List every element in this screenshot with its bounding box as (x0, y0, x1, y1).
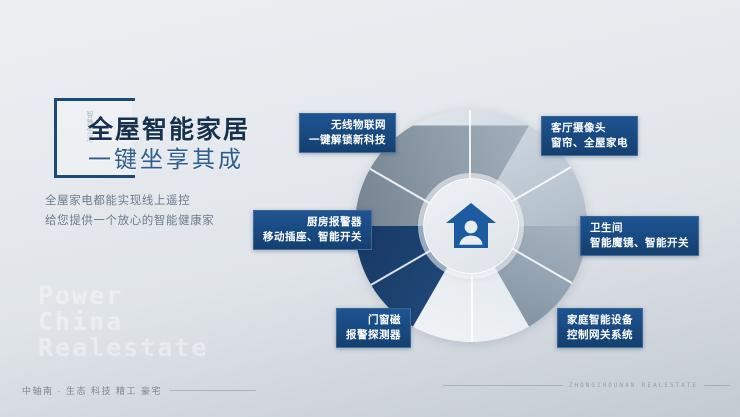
label-line-1: 门窗磁 (346, 313, 401, 328)
footer-rule (170, 390, 256, 391)
label-line-2: 报警探测器 (346, 328, 401, 343)
label-line-1: 家庭智能设备 (567, 313, 633, 328)
label-bathroom[interactable]: 卫生间 智能魔镜、智能开关 (580, 216, 699, 256)
label-kitchen-alarm[interactable]: 厨房报警器 移动插座、智能开关 (253, 210, 372, 250)
slide-canvas: 智慧生活 全屋智能家居 一键坐享其成 全屋家电都能实现线上遥控 给您提供一个放心… (0, 0, 740, 417)
label-line-2: 控制网关系统 (567, 328, 633, 343)
label-line-1: 厨房报警器 (263, 215, 362, 230)
label-line-2: 智能魔镜、智能开关 (590, 236, 689, 251)
label-line-1: 无线物联网 (309, 118, 386, 133)
watermark-line-3: Realestate (38, 335, 209, 361)
label-living-room[interactable]: 客厅摄像头 窗帘、全屋家电 (541, 116, 638, 156)
label-line-1: 卫生间 (590, 221, 689, 236)
label-line-2: 窗帘、全屋家电 (551, 136, 628, 151)
watermark-line-1: Power (38, 283, 209, 309)
background-watermark: Power China Realestate (38, 283, 209, 361)
footer-brand-text: ZHONGZHOUNAN REALESTATE (569, 382, 698, 389)
watermark-line-2: China (38, 309, 209, 335)
page-subtitle: 一键坐享其成 (88, 140, 244, 174)
description-line-1: 全屋家电都能实现线上遥控 (45, 191, 214, 211)
donut-center-hub (423, 178, 519, 274)
label-line-2: 一键解锁新科技 (309, 133, 386, 148)
footer-tagline: 中轴南 · 生态 科技 精工 豪宅 (22, 384, 256, 397)
label-door-sensor[interactable]: 门窗磁 报警探测器 (336, 308, 411, 348)
footer-brand-rule-left (443, 385, 563, 386)
description-line-2: 给您提供一个放心的智能健康家 (45, 211, 214, 231)
label-wireless-iot[interactable]: 无线物联网 一键解锁新科技 (299, 113, 396, 153)
home-user-icon (444, 201, 498, 251)
label-home-gateway[interactable]: 家庭智能设备 控制网关系统 (557, 308, 643, 348)
description-block: 全屋家电都能实现线上遥控 给您提供一个放心的智能健康家 (45, 191, 214, 231)
footer-brand-mark: ZHONGZHOUNAN REALESTATE (443, 382, 730, 389)
label-line-2: 移动插座、智能开关 (263, 230, 362, 245)
label-line-1: 客厅摄像头 (551, 121, 628, 136)
footer-brand-rule-right (704, 385, 730, 386)
footer-tagline-text: 中轴南 · 生态 科技 精工 豪宅 (22, 384, 162, 397)
